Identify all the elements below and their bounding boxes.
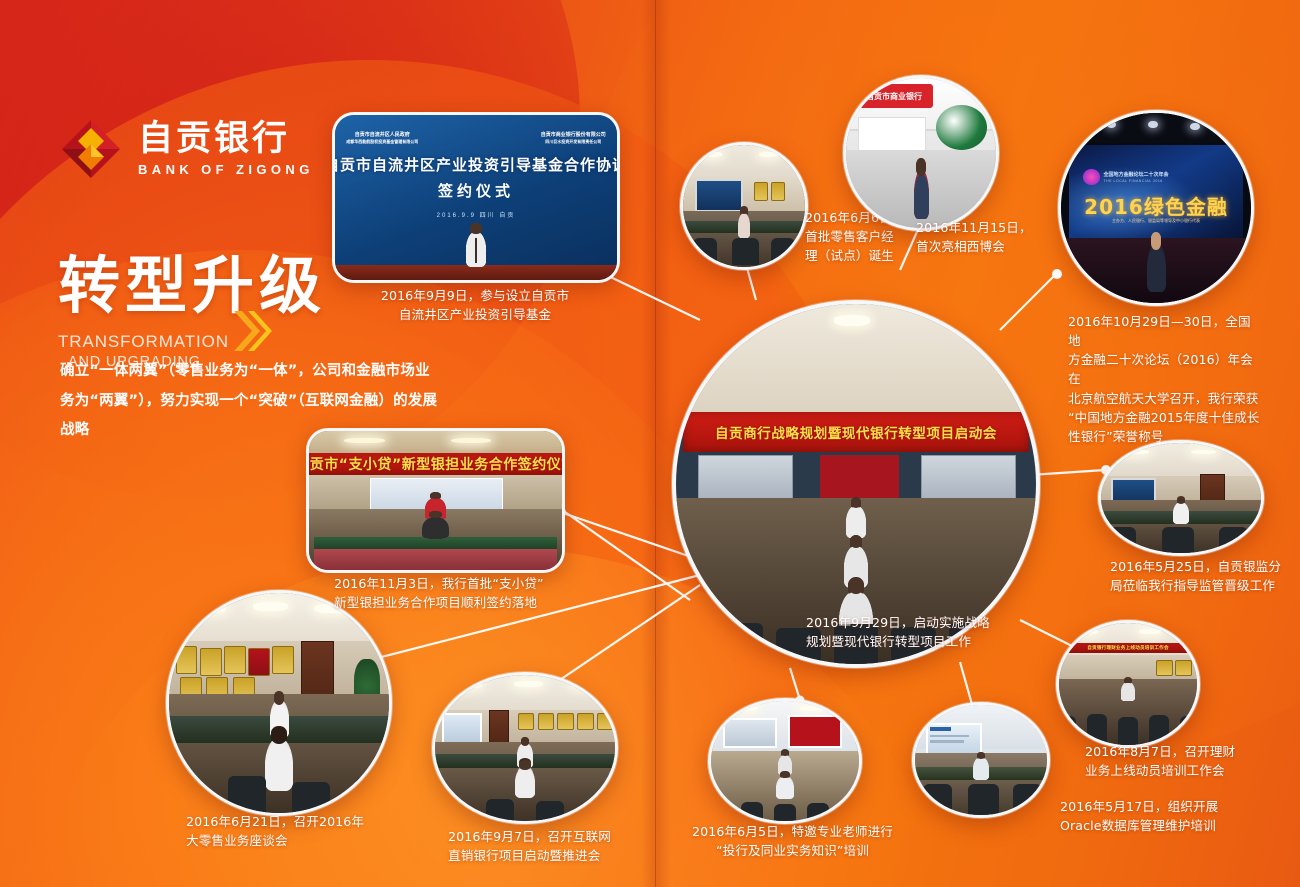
caption-green-finance-forum-2016: 2016年10月29日—30日，全国地 方金融二十次论坛（2016）年会在 北京… — [1068, 312, 1260, 446]
zigong-diamond-logo-icon — [60, 118, 122, 180]
brand-name-en: BANK OF ZIGONG — [138, 162, 314, 177]
photo-first-appearance-west-expo[interactable]: 自贡市商业银行 — [843, 75, 999, 231]
center-banner-text: 自贡商行战略规划暨现代银行转型项目启动会 — [715, 422, 997, 442]
caption-strategy-launch-meeting: 2016年9月29日，启动实施战略 规划暨现代银行转型项目工作 — [806, 613, 1016, 651]
photo-retail-customer-manager-pilot[interactable] — [680, 142, 808, 270]
photo-zhixiaodai-signing[interactable]: 自贡市“支小贷”新型银担业务合作签约仪式 — [306, 428, 565, 573]
banner-subtitle: 签约仪式 — [438, 180, 514, 201]
brochure-page: 自贡银行 BANK OF ZIGONG 转型升级 TRANSFORMATION … — [0, 0, 1300, 887]
banner-date: 2016.9.9 四川 自贡 — [437, 210, 516, 219]
page-fold-shadow — [641, 0, 671, 887]
headline-block: 转型升级 TRANSFORMATION AND UPGRADING — [58, 255, 326, 372]
banner-org-right: 自贡市商业银行股份有限公司 四川巨水投资开发有限责任公司 — [541, 132, 606, 146]
stage-screen-title: 2016绿色金融 — [1069, 191, 1244, 220]
photo-oracle-database-training[interactable] — [912, 702, 1050, 818]
zhixiaodai-banner-text: 自贡市“支小贷”新型银担业务合作签约仪式 — [306, 454, 565, 474]
subtitle-line-1: TRANSFORMATION — [58, 331, 326, 353]
caption-direct-bank-kickoff: 2016年9月7日，召开互联网 直销银行项目启动暨推进会 — [448, 827, 648, 865]
photo-retail-business-symposium[interactable] — [166, 590, 392, 816]
caption-wealth-management-training: 2016年8月7日，召开理财 业务上线动员培训工作会 — [1085, 742, 1260, 780]
brand-name-cn: 自贡银行 — [138, 121, 314, 158]
double-chevron-right-icon — [232, 308, 272, 354]
caption-retail-business-symposium: 2016年6月21日，召开2016年 大零售业务座谈会 — [186, 812, 386, 850]
banner-org-left: 自贡市自流井区人民政府 成都华西能航股权投资基金管理有限公司 — [346, 132, 418, 146]
photo-fund-signing-ceremony[interactable]: 自贡市自流井区人民政府 成都华西能航股权投资基金管理有限公司 自贡市商业银行股份… — [332, 112, 620, 283]
caption-zhixiaodai-signing: 2016年11月3日，我行首批“支小贷” 新型银担业务合作项目顺利签约落地 — [334, 574, 564, 612]
caption-cbrc-supervision-guidance: 2016年5月25日，自贡银监分 局莅临我行指导监管晋级工作 — [1110, 557, 1290, 595]
page-fold-line — [655, 0, 656, 887]
photo-wealth-management-training[interactable]: 自贡银行理财业务上线动员培训工作会 — [1056, 620, 1200, 748]
caption-fund-signing-ceremony: 2016年9月9日，参与设立自贡市 自流井区产业投资引导基金 — [340, 286, 610, 324]
caption-investment-banking-training: 2016年6月5日，特邀专业老师进行 “投行及同业实务知识”培训 — [690, 822, 895, 860]
expo-booth-sign: 自贡市商业银行 — [866, 91, 922, 102]
caption-oracle-database-training: 2016年5月17日，组织开展 Oracle数据库管理维护培训 — [1060, 797, 1250, 835]
banner-headline: 自贡市自流井区产业投资引导基金合作协议 — [335, 154, 617, 175]
photo-investment-banking-training[interactable] — [708, 698, 862, 824]
page-title: 转型升级 — [58, 255, 326, 317]
photo-cbrc-supervision-guidance[interactable] — [1098, 440, 1264, 556]
photo-direct-bank-kickoff[interactable] — [432, 672, 618, 824]
photo-green-finance-forum-2016[interactable]: 全国地方金融论坛二十次年会 THE LOCAL FINANCIAL 2016 2… — [1058, 110, 1254, 306]
brand-lockup: 自贡银行 BANK OF ZIGONG — [60, 118, 314, 180]
caption-first-appearance-west-expo: 2016年11月15日， 首次亮相西博会 — [916, 218, 1036, 256]
